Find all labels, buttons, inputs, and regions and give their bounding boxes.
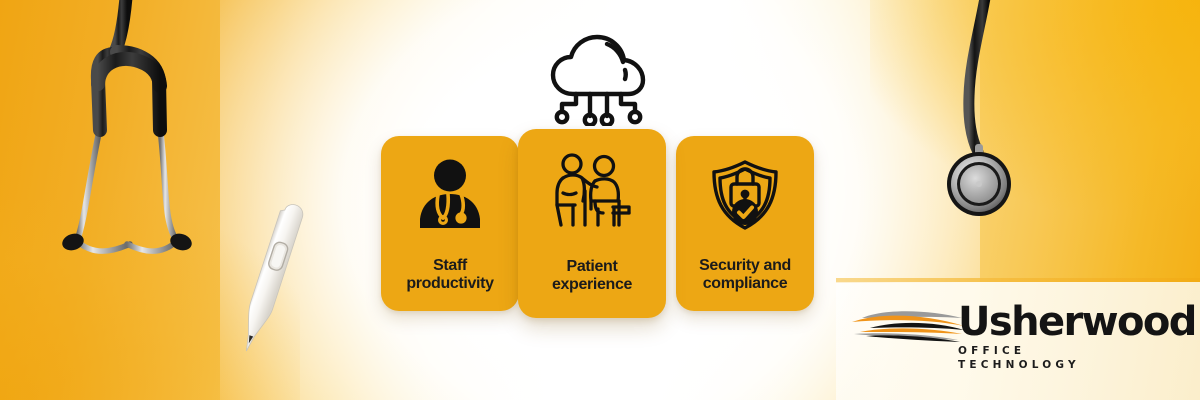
doctor-stethoscope-icon xyxy=(413,158,487,230)
shield-lock-check-icon xyxy=(709,158,781,232)
card-security-compliance[interactable]: Security and compliance xyxy=(676,136,814,311)
card-line1: Staff xyxy=(433,257,467,274)
feature-cards: Staff productivity xyxy=(378,120,826,310)
stethoscope-chestpiece-icon xyxy=(928,0,1048,244)
card-line2: productivity xyxy=(406,275,493,292)
healthcare-it-banner: Staff productivity xyxy=(0,0,1200,400)
caregiver-patient-icon xyxy=(551,153,633,227)
stethoscope-earpieces-icon xyxy=(55,0,245,284)
card-label-security-compliance: Security and compliance xyxy=(676,257,814,311)
card-staff-productivity[interactable]: Staff productivity xyxy=(381,136,519,311)
logo-tagline: OFFICE TECHNOLOGY xyxy=(958,344,1150,372)
card-line1: Security and xyxy=(699,257,791,274)
logo-brand-name: Usherwood xyxy=(958,302,1150,342)
card-line2: compliance xyxy=(703,275,788,292)
card-patient-experience[interactable]: Patient experience xyxy=(518,129,666,318)
digital-thermometer-icon xyxy=(222,196,312,366)
usherwood-swoosh-icon xyxy=(846,300,966,356)
card-label-staff-productivity: Staff productivity xyxy=(381,257,519,311)
card-line1: Patient xyxy=(567,258,618,275)
cloud-network-icon xyxy=(535,28,663,126)
card-line2: experience xyxy=(552,276,632,293)
card-label-patient-experience: Patient experience xyxy=(518,258,666,318)
usherwood-wordmark: Usherwood OFFICE TECHNOLOGY xyxy=(958,302,1150,372)
